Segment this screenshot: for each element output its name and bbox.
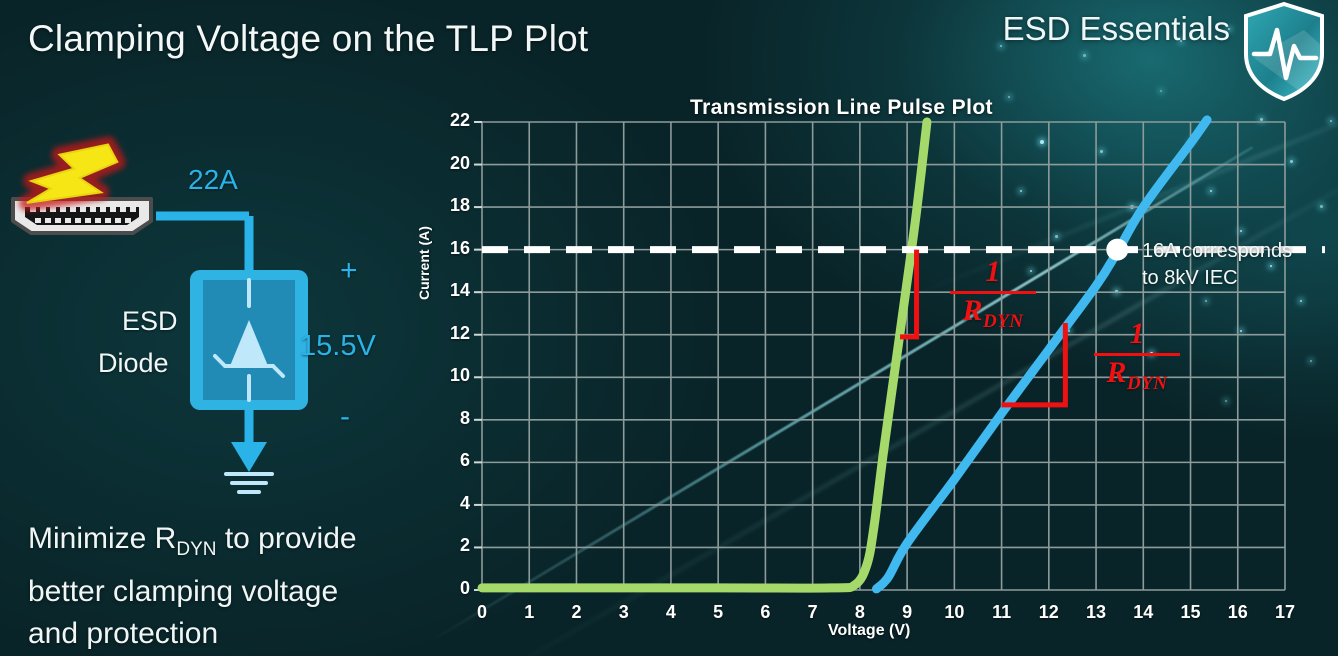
slope-denominator: R [1106, 356, 1127, 389]
slope-denominator-sub: DYN [1127, 373, 1168, 394]
x-tick-label: 6 [748, 602, 782, 623]
y-tick-label: 10 [434, 365, 470, 386]
x-tick-label: 13 [1079, 602, 1113, 623]
callout-line2: to 8kV IEC [1142, 265, 1292, 292]
x-tick-label: 7 [796, 602, 830, 623]
x-tick-label: 17 [1268, 602, 1302, 623]
slope-numerator: 1 [938, 258, 1048, 286]
y-tick-label: 22 [434, 110, 470, 131]
x-tick-label: 9 [890, 602, 924, 623]
callout-line1: 16A corresponds [1142, 238, 1292, 265]
y-tick-label: 2 [434, 535, 470, 556]
y-tick-label: 20 [434, 153, 470, 174]
chart-markers [1106, 239, 1128, 261]
slope-denominator-sub: DYN [983, 311, 1024, 332]
operating-point-callout: 16A corresponds to 8kV IEC [1142, 238, 1292, 292]
x-tick-label: 16 [1221, 602, 1255, 623]
operating-point-marker [1106, 239, 1128, 261]
slope-label-1: 1 RDYN [938, 258, 1048, 337]
x-tick-label: 0 [465, 602, 499, 623]
y-tick-label: 4 [434, 493, 470, 514]
y-tick-label: 14 [434, 280, 470, 301]
y-tick-label: 6 [434, 450, 470, 471]
x-tick-label: 14 [1126, 602, 1160, 623]
x-tick-label: 1 [512, 602, 546, 623]
x-tick-label: 15 [1174, 602, 1208, 623]
y-tick-label: 18 [434, 195, 470, 216]
x-tick-label: 10 [937, 602, 971, 623]
y-tick-label: 8 [434, 408, 470, 429]
y-tick-label: 0 [434, 578, 470, 599]
y-tick-label: 16 [434, 238, 470, 259]
x-tick-label: 2 [559, 602, 593, 623]
x-tick-label: 5 [701, 602, 735, 623]
slope-numerator: 1 [1082, 320, 1192, 348]
x-tick-label: 11 [985, 602, 1019, 623]
x-tick-label: 4 [654, 602, 688, 623]
x-tick-label: 8 [843, 602, 877, 623]
x-tick-label: 12 [1032, 602, 1066, 623]
x-tick-label: 3 [607, 602, 641, 623]
y-tick-label: 12 [434, 323, 470, 344]
slope-denominator: R [962, 294, 983, 327]
slope-label-2: 1 RDYN [1082, 320, 1192, 399]
